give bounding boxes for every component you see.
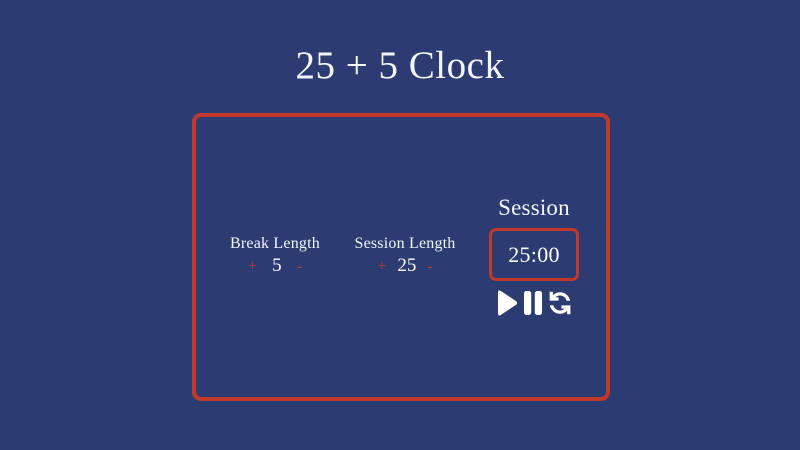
length-controls: Break Length + 5 - Session Length + 25 - <box>0 0 800 450</box>
break-length-value: 5 <box>268 255 286 277</box>
timer-label: Session <box>478 194 590 222</box>
timer-time-left: 25:00 <box>508 242 560 268</box>
break-length-control: Break Length + 5 - <box>214 234 336 278</box>
reset-icon <box>546 288 574 318</box>
reset-button[interactable] <box>546 288 574 318</box>
session-length-value: 25 <box>397 255 416 277</box>
play-icon <box>494 288 520 318</box>
session-length-row: + 25 - <box>341 255 469 278</box>
session-length-label: Session Length <box>341 234 469 253</box>
break-length-row: + 5 - <box>214 255 336 278</box>
session-length-control: Session Length + 25 - <box>341 234 469 278</box>
pause-icon <box>521 288 545 318</box>
transport-controls <box>478 288 590 318</box>
session-decrement-button[interactable]: - <box>427 256 432 278</box>
clock-app: 25 + 5 Clock Break Length + 5 - Session … <box>0 0 800 450</box>
timer-group: Session 25:00 <box>478 194 590 318</box>
break-decrement-button[interactable]: - <box>297 256 302 278</box>
session-increment-button[interactable]: + <box>377 256 386 278</box>
play-button[interactable] <box>494 288 520 318</box>
pause-button[interactable] <box>521 288 545 318</box>
timer-display-box: 25:00 <box>489 228 579 281</box>
break-length-label: Break Length <box>214 234 336 253</box>
break-increment-button[interactable]: + <box>248 256 257 278</box>
